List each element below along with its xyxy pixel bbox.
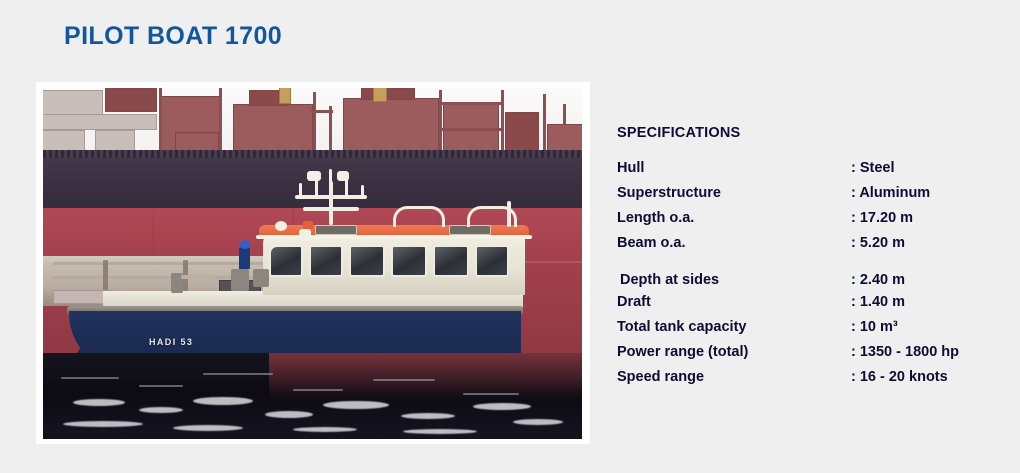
pilot-boat-photograph: HADI 53 [43, 88, 582, 439]
spec-row: Beam o.a.: 5.20 m [617, 235, 997, 260]
spec-label: Power range (total) [617, 344, 748, 360]
spec-row: Depth at sides: 2.40 m [617, 272, 997, 294]
boat-hull-name: HADI 53 [149, 337, 193, 347]
spec-label: Total tank capacity [617, 319, 746, 335]
crew-member-helmet [240, 240, 250, 249]
spec-row: Total tank capacity: 10 m³ [617, 319, 997, 344]
spec-value: : 1350 - 1800 hp [851, 344, 959, 360]
spec-label: Superstructure [617, 185, 721, 201]
specifications-heading: SPECIFICATIONS [617, 125, 997, 141]
spec-value: : 5.20 m [851, 235, 905, 251]
spec-row: Length o.a.: 17.20 m [617, 210, 997, 235]
specifications-list: Hull: SteelSuperstructure: AluminumLengt… [617, 160, 997, 394]
spec-value: : Steel [851, 160, 895, 176]
photo-frame: HADI 53 [36, 82, 590, 444]
specifications-panel: SPECIFICATIONS Hull: SteelSuperstructure… [617, 125, 997, 394]
spec-label: Hull [617, 160, 644, 176]
spec-label: Depth at sides [620, 272, 719, 288]
spec-label: Speed range [617, 369, 704, 385]
spec-label: Length o.a. [617, 210, 694, 226]
water [43, 353, 582, 439]
spec-label: Draft [617, 294, 651, 310]
spec-row: Speed range: 16 - 20 knots [617, 369, 997, 394]
spec-row: Draft: 1.40 m [617, 294, 997, 319]
wheelhouse-roof-lip [256, 235, 532, 239]
cargo-ship-deck-equipment [43, 88, 582, 156]
spec-row: Superstructure: Aluminum [617, 185, 997, 210]
crew-member [239, 247, 250, 269]
spec-value: : 17.20 m [851, 210, 913, 226]
spec-value: : 16 - 20 knots [851, 369, 948, 385]
spec-value: : Aluminum [851, 185, 930, 201]
spec-value: : 2.40 m [851, 272, 905, 288]
spec-row: Power range (total): 1350 - 1800 hp [617, 344, 997, 369]
spec-value: : 10 m³ [851, 319, 898, 335]
spec-value: : 1.40 m [851, 294, 905, 310]
spec-row: Hull: Steel [617, 160, 997, 185]
spec-label: Beam o.a. [617, 235, 686, 251]
page-title: PILOT BOAT 1700 [64, 22, 282, 51]
